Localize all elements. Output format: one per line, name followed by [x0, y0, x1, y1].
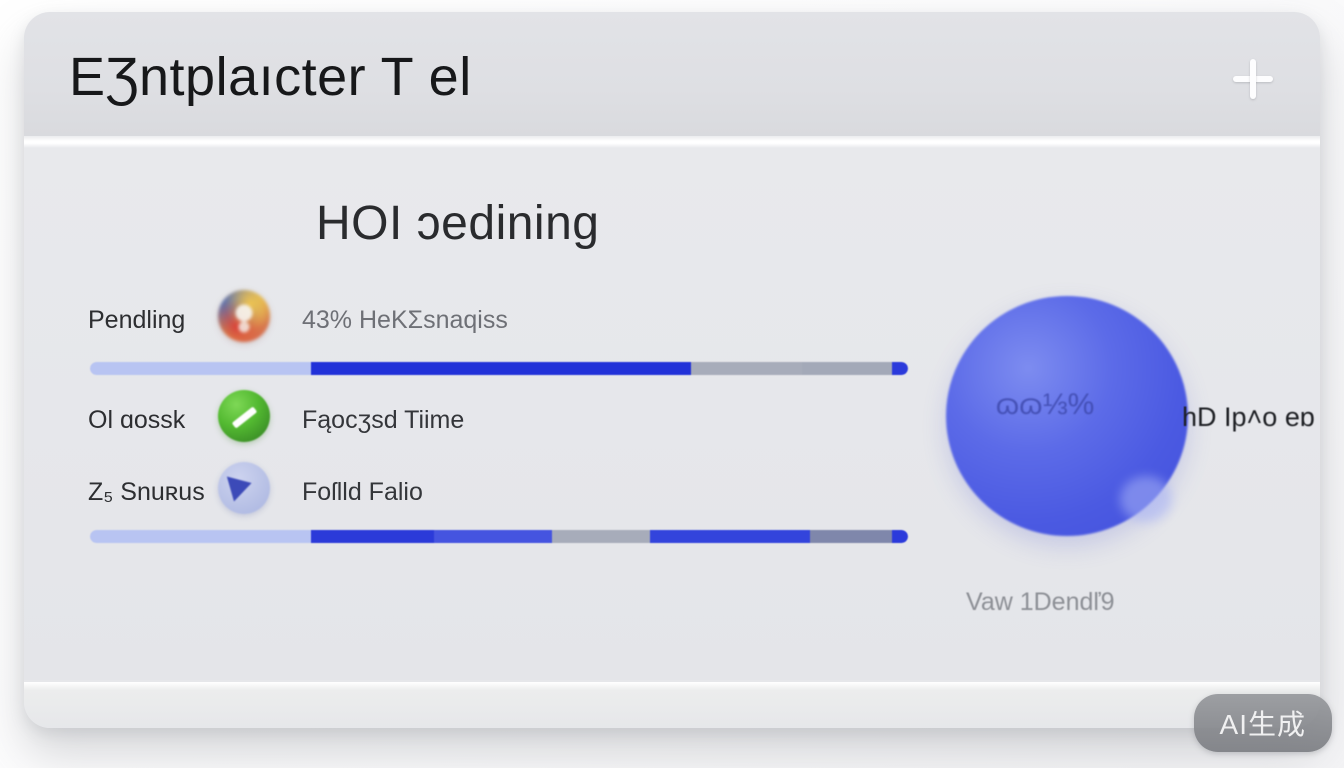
stats-panel: HOI ᴐedining Pendling 43% HeKƩsnaqiss Ol…	[66, 196, 916, 616]
user-avatar-icon	[218, 290, 270, 342]
stat-row: Ol ɑossk Fąocʒsd Tiime	[66, 396, 916, 446]
stat-row-label: Pendling	[88, 306, 185, 335]
progress-segment	[311, 362, 691, 375]
screen-root: EƷntplaıcter T el HOI ᴐedining Pendling …	[0, 0, 1344, 768]
progress-segment	[650, 530, 810, 543]
section-heading: HOI ᴐedining	[316, 196, 599, 251]
ring-value-label: ɷɷ⅓%	[924, 388, 1166, 422]
view-details-link[interactable]: Vaw 1Dendľ9	[966, 588, 1115, 617]
stat-row: Pendling 43% HeKƩsnaqiss	[66, 296, 916, 346]
progress-segment	[90, 362, 311, 375]
app-body: HOI ᴐedining Pendling 43% HeKƩsnaqiss Ol…	[24, 148, 1320, 680]
progress-segment	[810, 530, 892, 543]
progress-bar-top[interactable]	[90, 362, 908, 375]
progress-bar-bottom[interactable]	[90, 530, 908, 543]
header-divider	[24, 136, 1320, 148]
app-header: EƷntplaıcter T el	[24, 12, 1320, 136]
plus-icon[interactable]	[1230, 56, 1276, 102]
check-circle-icon	[218, 390, 270, 442]
stat-row-value: Foſlld Falio	[302, 478, 423, 507]
progress-segment	[552, 530, 650, 543]
stat-row-value: 43% HeKƩsnaqiss	[302, 306, 508, 335]
app-footer	[24, 682, 1320, 728]
stat-row-label: Ol ɑossk	[88, 406, 185, 435]
ring-highlight	[1120, 476, 1172, 522]
gauge-panel: ɷɷ⅓% hD Ip˄o eɒ Vaw 1Dendľ9	[924, 288, 1320, 728]
progress-segment	[892, 530, 908, 543]
progress-segment	[802, 362, 892, 375]
send-arrow-icon	[218, 462, 270, 514]
app-card: EƷntplaıcter T el HOI ᴐedining Pendling …	[24, 12, 1320, 728]
page-title: EƷntplaıcter T el	[69, 46, 472, 108]
progress-segment	[691, 362, 801, 375]
progress-segment	[90, 530, 311, 543]
stat-row-value: Fąocʒsd Tiime	[302, 406, 464, 435]
stat-row-label: Z₅ Snuʀus	[88, 478, 205, 507]
ring-side-label: hD Ip˄o eɒ	[1182, 402, 1315, 433]
progress-segment	[892, 362, 908, 375]
progress-segment	[434, 530, 553, 543]
progress-segment	[311, 530, 434, 543]
stat-row: Z₅ Snuʀus Foſlld Falio	[66, 468, 916, 518]
ai-watermark: AI生成	[1194, 694, 1332, 752]
